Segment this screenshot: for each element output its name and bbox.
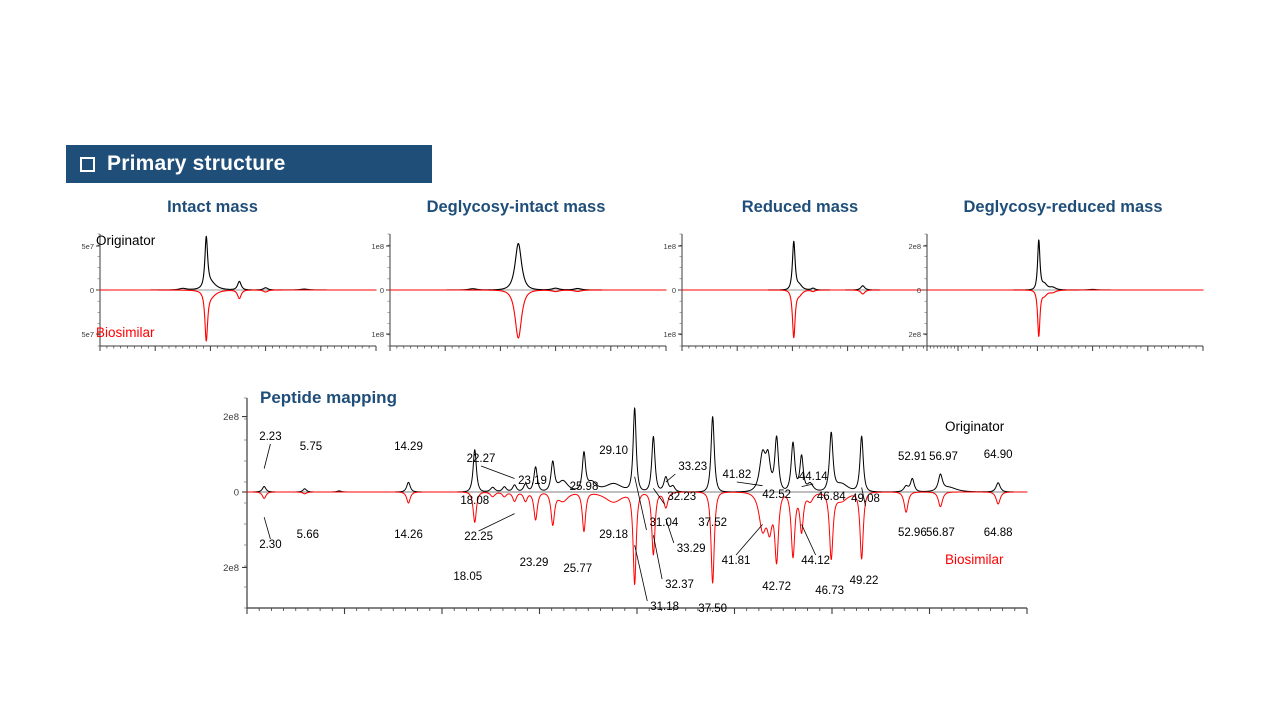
peak-label: 49.08 [851,493,880,505]
peak-label: 31.04 [649,517,678,529]
panel-title-deglycosy-reduced-mass: Deglycosy-reduced mass [948,198,1178,217]
peak-label: 29.18 [599,529,628,541]
svg-text:0: 0 [672,286,676,295]
peak-label: 18.05 [453,571,482,583]
svg-text:1e8: 1e8 [663,242,676,251]
page-title: Primary structure [107,152,285,176]
section-header-bar: Primary structure [66,145,432,183]
svg-text:2e8: 2e8 [223,412,239,423]
peak-label: 25.98 [570,481,599,493]
square-bullet-icon [80,157,95,172]
peak-label: 64.90 [984,449,1013,461]
panel-title-intact-mass: Intact mass [130,198,295,217]
peak-label: 56.97 [929,451,958,463]
peak-label: 33.29 [677,543,706,555]
svg-text:1e8: 1e8 [371,242,384,251]
peak-label: 33.23 [678,461,707,473]
peak-label: 46.84 [817,491,846,503]
peak-label: 22.25 [464,531,493,543]
originator-trace-label-peptide-map: Originator [945,419,1004,434]
biosimilar-trace-label-peptide-map: Biosimilar [945,552,1004,567]
peak-label: 41.82 [722,469,751,481]
svg-text:5e7: 5e7 [81,242,94,251]
peak-label: 2.30 [259,539,281,551]
originator-trace-label-panel1: Originator [96,233,155,248]
peak-label: 49.22 [850,575,879,587]
svg-text:0: 0 [917,286,921,295]
peak-label: 46.73 [815,585,844,597]
svg-text:2e8: 2e8 [908,242,921,251]
peak-label: 5.66 [297,529,319,541]
peak-label: 37.50 [698,603,727,615]
peak-label: 52.96 [898,527,927,539]
panel-title-reduced-mass: Reduced mass [710,198,890,217]
panel-title-deglycosy-intact-mass: Deglycosy-intact mass [418,198,614,217]
slide-canvas: Primary structure Intact mass Deglycosy-… [0,0,1280,720]
peak-label: 32.23 [667,491,696,503]
peak-label: 5.75 [300,441,322,453]
svg-text:2e8: 2e8 [908,330,921,339]
peak-label: 56.87 [926,527,955,539]
peak-label: 44.14 [799,471,828,483]
svg-text:5e7: 5e7 [81,330,94,339]
svg-text:2e8: 2e8 [223,563,239,574]
svg-text:0: 0 [90,286,94,295]
peak-label: 23.29 [520,557,549,569]
peak-label: 22.27 [467,453,496,465]
svg-text:0: 0 [380,286,384,295]
mass-panel-deglycosy-intact-mass: 1e801e8 [368,228,668,360]
peak-label: 14.26 [394,529,423,541]
peak-label: 14.29 [394,441,423,453]
peak-label: 42.72 [762,581,791,593]
peak-label: 18.08 [460,495,489,507]
peptide-mapping-title: Peptide mapping [260,388,397,408]
peak-label: 41.81 [722,555,751,567]
peak-label: 42.52 [762,489,791,501]
svg-text:1e8: 1e8 [371,330,384,339]
peak-label: 32.37 [665,579,694,591]
svg-text:0: 0 [234,488,239,499]
peptide-mapping-chart: Peptide mapping 2e802e82.235.7514.2918.0… [215,380,1045,620]
peak-label: 64.88 [984,527,1013,539]
peak-label: 29.10 [599,445,628,457]
mass-spectrum-plot: 1e801e8 [368,228,668,360]
peak-label: 31.18 [650,601,679,613]
mass-panel-deglycosy-reduced-mass: 2e802e8 [905,228,1205,360]
mass-spectrum-plot: 2e802e8 [905,228,1205,360]
peptide-map-plot: 2e802e82.235.7514.2918.0822.2723.1925.98… [215,380,1045,620]
biosimilar-trace-label-panel1: Biosimilar [96,325,155,340]
peak-label: 25.77 [563,563,592,575]
peak-label: 37.52 [698,517,727,529]
peak-label: 23.19 [518,475,547,487]
peak-label: 44.12 [801,555,830,567]
peak-label: 2.23 [259,431,281,443]
peak-label: 52.91 [898,451,927,463]
svg-text:1e8: 1e8 [663,330,676,339]
